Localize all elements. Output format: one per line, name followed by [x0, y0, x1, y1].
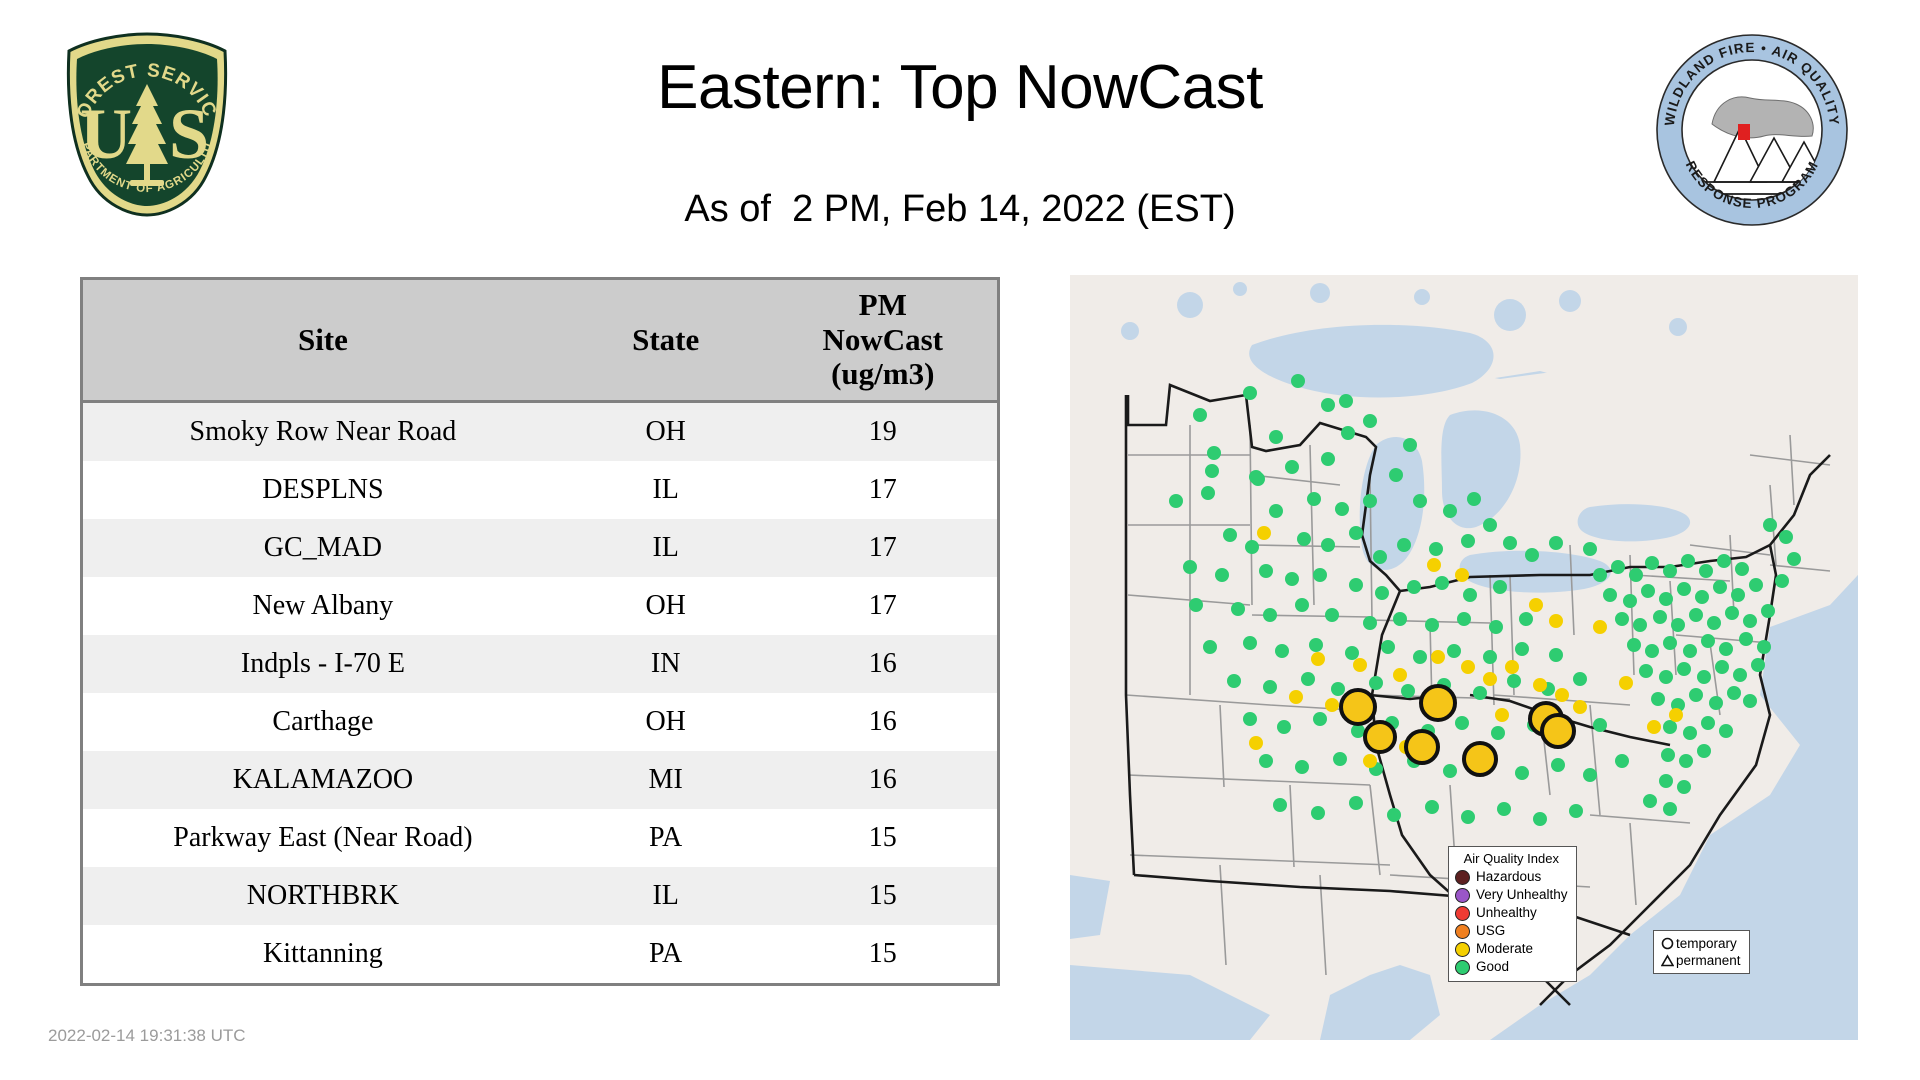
table-cell-site: New Albany — [83, 577, 563, 635]
table-cell-state: OH — [563, 577, 769, 635]
aqi-legend-swatch — [1455, 906, 1470, 921]
table-cell-state: MI — [563, 751, 769, 809]
aqi-legend-label: Hazardous — [1476, 870, 1541, 884]
circle-outline-icon — [1659, 937, 1676, 950]
column-header-state: State — [563, 280, 769, 402]
aqi-legend-swatch — [1455, 870, 1470, 885]
aqi-legend-item: Unhealthy — [1455, 904, 1568, 922]
table-row: GC_MADIL17 — [83, 519, 997, 577]
table-row: CarthageOH16 — [83, 693, 997, 751]
table-cell-value: 15 — [768, 867, 997, 925]
page-subtitle: As of 2 PM, Feb 14, 2022 (EST) — [0, 188, 1920, 231]
aqi-legend: Air Quality Index HazardousVery Unhealth… — [1448, 846, 1577, 982]
table-cell-site: GC_MAD — [83, 519, 563, 577]
table-cell-state: PA — [563, 925, 769, 983]
aqi-legend-item: Good — [1455, 958, 1568, 976]
table-cell-value: 17 — [768, 519, 997, 577]
table-header: Site State PM NowCast (ug/m3) — [83, 280, 997, 402]
table-cell-value: 15 — [768, 925, 997, 983]
table-cell-value: 17 — [768, 577, 997, 635]
aqi-legend-title: Air Quality Index — [1455, 851, 1568, 866]
aqi-legend-label: Very Unhealthy — [1476, 888, 1568, 902]
table-cell-value: 15 — [768, 809, 997, 867]
table-row: DESPLNSIL17 — [83, 461, 997, 519]
air-quality-monitor-map[interactable]: Air Quality Index HazardousVery Unhealth… — [1070, 275, 1858, 1040]
legend-label-permanent: permanent — [1676, 954, 1741, 968]
aqi-legend-item: USG — [1455, 922, 1568, 940]
table-cell-value: 16 — [768, 751, 997, 809]
sensor-type-legend: temporary permanent — [1653, 930, 1750, 974]
column-header-site: Site — [83, 280, 563, 402]
table-cell-value: 16 — [768, 635, 997, 693]
table-cell-site: Carthage — [83, 693, 563, 751]
table-cell-state: OH — [563, 693, 769, 751]
red-flag-icon — [1738, 124, 1750, 140]
table-cell-site: Parkway East (Near Road) — [83, 809, 563, 867]
table-row: Parkway East (Near Road)PA15 — [83, 809, 997, 867]
wildland-fire-air-quality-response-program-logo: WILDLAND FIRE • AIR QUALITY RESPONSE PRO… — [1654, 32, 1850, 228]
aqi-legend-swatch — [1455, 942, 1470, 957]
page-header: FOREST SERVICE DEPARTMENT OF AGRICULTURE… — [0, 0, 1920, 230]
table-cell-state: PA — [563, 809, 769, 867]
table-cell-site: DESPLNS — [83, 461, 563, 519]
legend-item-temporary: temporary — [1659, 935, 1741, 952]
table-row: New AlbanyOH17 — [83, 577, 997, 635]
table-row: KALAMAZOOMI16 — [83, 751, 997, 809]
table-cell-value: 16 — [768, 693, 997, 751]
table-row: KittanningPA15 — [83, 925, 997, 983]
table-cell-site: Smoky Row Near Road — [83, 402, 563, 462]
table-cell-site: Indpls - I-70 E — [83, 635, 563, 693]
table-cell-state: IL — [563, 867, 769, 925]
legend-item-permanent: permanent — [1659, 952, 1741, 969]
aqi-legend-swatch — [1455, 960, 1470, 975]
generation-timestamp: 2022-02-14 19:31:38 UTC — [48, 1026, 246, 1046]
aqi-legend-swatch — [1455, 888, 1470, 903]
aqi-legend-item: Very Unhealthy — [1455, 886, 1568, 904]
top-nowcast-table-container: Site State PM NowCast (ug/m3) Smoky Row … — [80, 277, 1000, 986]
top-nowcast-table: Site State PM NowCast (ug/m3) Smoky Row … — [83, 280, 997, 983]
aqi-legend-label: Moderate — [1476, 942, 1533, 956]
triangle-outline-icon — [1659, 954, 1676, 967]
aqi-legend-item: Moderate — [1455, 940, 1568, 958]
table-cell-state: OH — [563, 402, 769, 462]
table-cell-state: IL — [563, 461, 769, 519]
table-row: Indpls - I-70 EIN16 — [83, 635, 997, 693]
table-body: Smoky Row Near RoadOH19DESPLNSIL17GC_MAD… — [83, 402, 997, 984]
aqi-legend-label: Unhealthy — [1476, 906, 1537, 920]
table-row: Smoky Row Near RoadOH19 — [83, 402, 997, 462]
page-title: Eastern: Top NowCast — [0, 52, 1920, 123]
table-cell-value: 19 — [768, 402, 997, 462]
aqi-legend-item: Hazardous — [1455, 868, 1568, 886]
table-header-row: Site State PM NowCast (ug/m3) — [83, 280, 997, 402]
table-cell-site: NORTHBRK — [83, 867, 563, 925]
aqi-legend-label: Good — [1476, 960, 1509, 974]
table-cell-state: IL — [563, 519, 769, 577]
aqi-legend-swatch — [1455, 924, 1470, 939]
aqi-legend-label: USG — [1476, 924, 1505, 938]
table-cell-state: IN — [563, 635, 769, 693]
column-header-pm-nowcast: PM NowCast (ug/m3) — [768, 280, 997, 402]
column-header-pm-line3: (ug/m3) — [768, 357, 997, 392]
table-row: NORTHBRKIL15 — [83, 867, 997, 925]
legend-label-temporary: temporary — [1676, 937, 1737, 951]
table-cell-site: Kittanning — [83, 925, 563, 983]
table-cell-value: 17 — [768, 461, 997, 519]
table-cell-site: KALAMAZOO — [83, 751, 563, 809]
column-header-pm-line1: PM — [768, 288, 997, 323]
column-header-pm-line2: NowCast — [768, 323, 997, 358]
